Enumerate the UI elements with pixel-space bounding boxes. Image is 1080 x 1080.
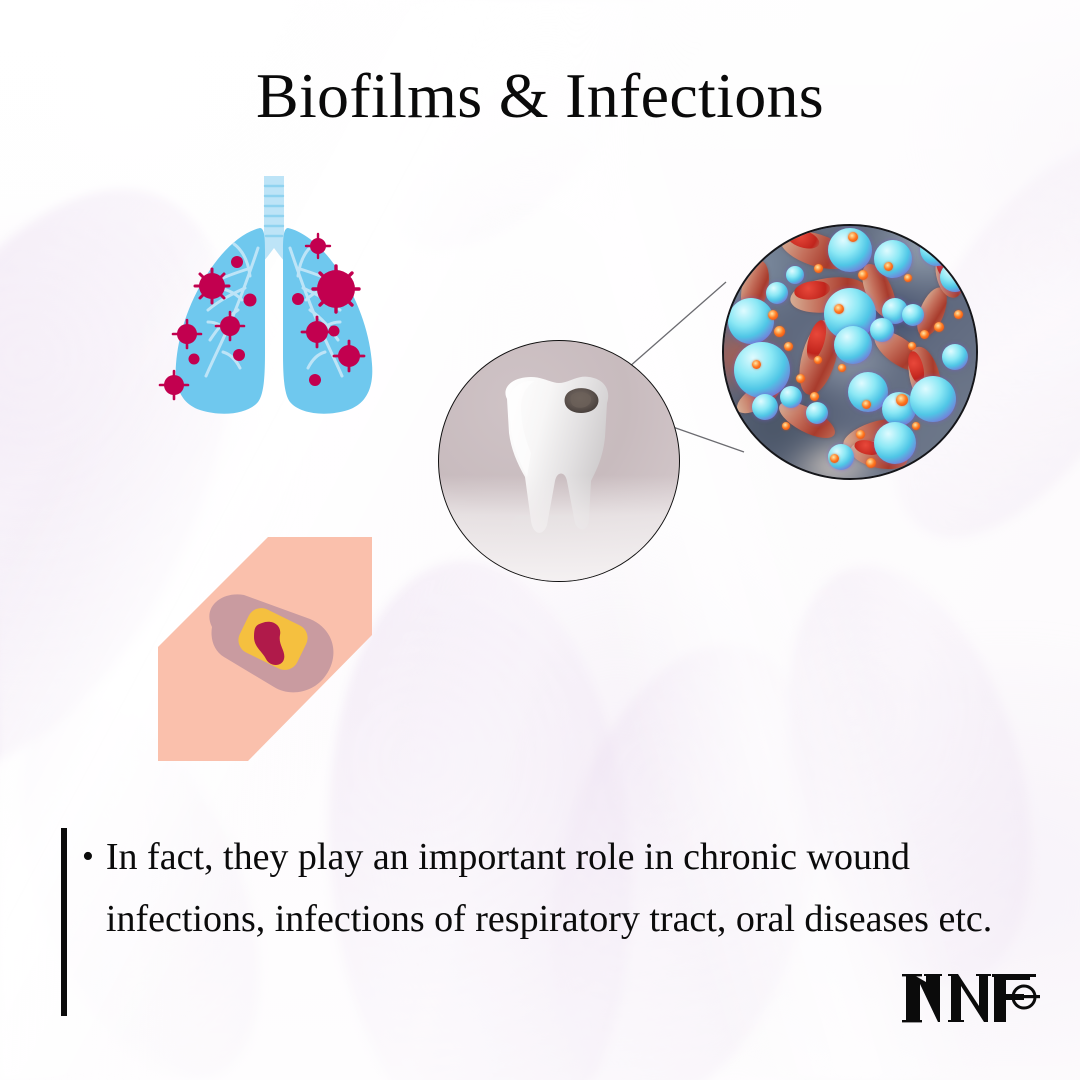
coccus xyxy=(874,422,916,464)
biofilm-particle xyxy=(912,422,920,430)
biofilm-particle xyxy=(768,310,778,320)
coccus xyxy=(920,232,954,266)
biofilm-particle xyxy=(908,342,916,350)
coccus xyxy=(940,262,970,292)
biofilm-particle xyxy=(896,394,908,406)
slide-canvas: Biofilms & Infections xyxy=(0,0,1080,1080)
coccus xyxy=(766,282,788,304)
coccus xyxy=(752,394,778,420)
mnf-monogram-icon xyxy=(900,962,1050,1032)
coccus xyxy=(910,376,956,422)
biofilm-particle xyxy=(834,304,844,314)
biofilm-particle xyxy=(934,322,944,332)
biofilm-particle xyxy=(920,330,929,339)
biofilm-particle xyxy=(814,356,822,364)
coccus xyxy=(728,298,774,344)
accent-bar xyxy=(61,828,67,1016)
coccus xyxy=(870,318,894,342)
biofilm-particle xyxy=(810,392,819,401)
biofilm-particle xyxy=(866,458,876,468)
body-text: In fact, they play an important role in … xyxy=(106,826,1026,950)
biofilm-particle xyxy=(856,430,865,439)
biofilm-micrograph xyxy=(722,224,978,480)
biofilm-particle xyxy=(884,262,893,271)
page-title: Biofilms & Infections xyxy=(0,64,1080,128)
biofilm-particle xyxy=(782,422,790,430)
biofilm-particle xyxy=(784,342,793,351)
tooth-floor-reflection xyxy=(439,475,679,581)
bullet-list-item: • In fact, they play an important role i… xyxy=(82,826,1042,950)
brand-logo xyxy=(900,962,1050,1032)
wound-icon xyxy=(150,515,410,790)
infected-lungs-illustration xyxy=(138,176,408,426)
biofilm-particle xyxy=(814,264,823,273)
biofilm-particle xyxy=(752,360,761,369)
biofilm-particle xyxy=(830,454,839,463)
coccus xyxy=(902,304,924,326)
coccus xyxy=(786,266,804,284)
coccus xyxy=(942,344,968,370)
lungs-icon xyxy=(138,176,408,426)
biofilm-particle xyxy=(796,374,805,383)
biofilm-particle xyxy=(774,326,785,337)
coccus xyxy=(806,402,828,424)
bullet-glyph: • xyxy=(82,826,94,888)
coccus xyxy=(874,240,912,278)
biofilm-particle xyxy=(862,400,871,409)
biofilm-particle xyxy=(848,232,858,242)
coccus xyxy=(780,386,802,408)
biofilm-particle xyxy=(954,310,963,319)
biofilm-particle xyxy=(904,274,912,282)
tooth-with-cavity xyxy=(438,340,680,582)
infected-wound-illustration xyxy=(150,515,410,790)
coccus xyxy=(834,326,872,364)
biofilm-particle xyxy=(858,270,868,280)
biofilm-particle xyxy=(838,364,846,372)
